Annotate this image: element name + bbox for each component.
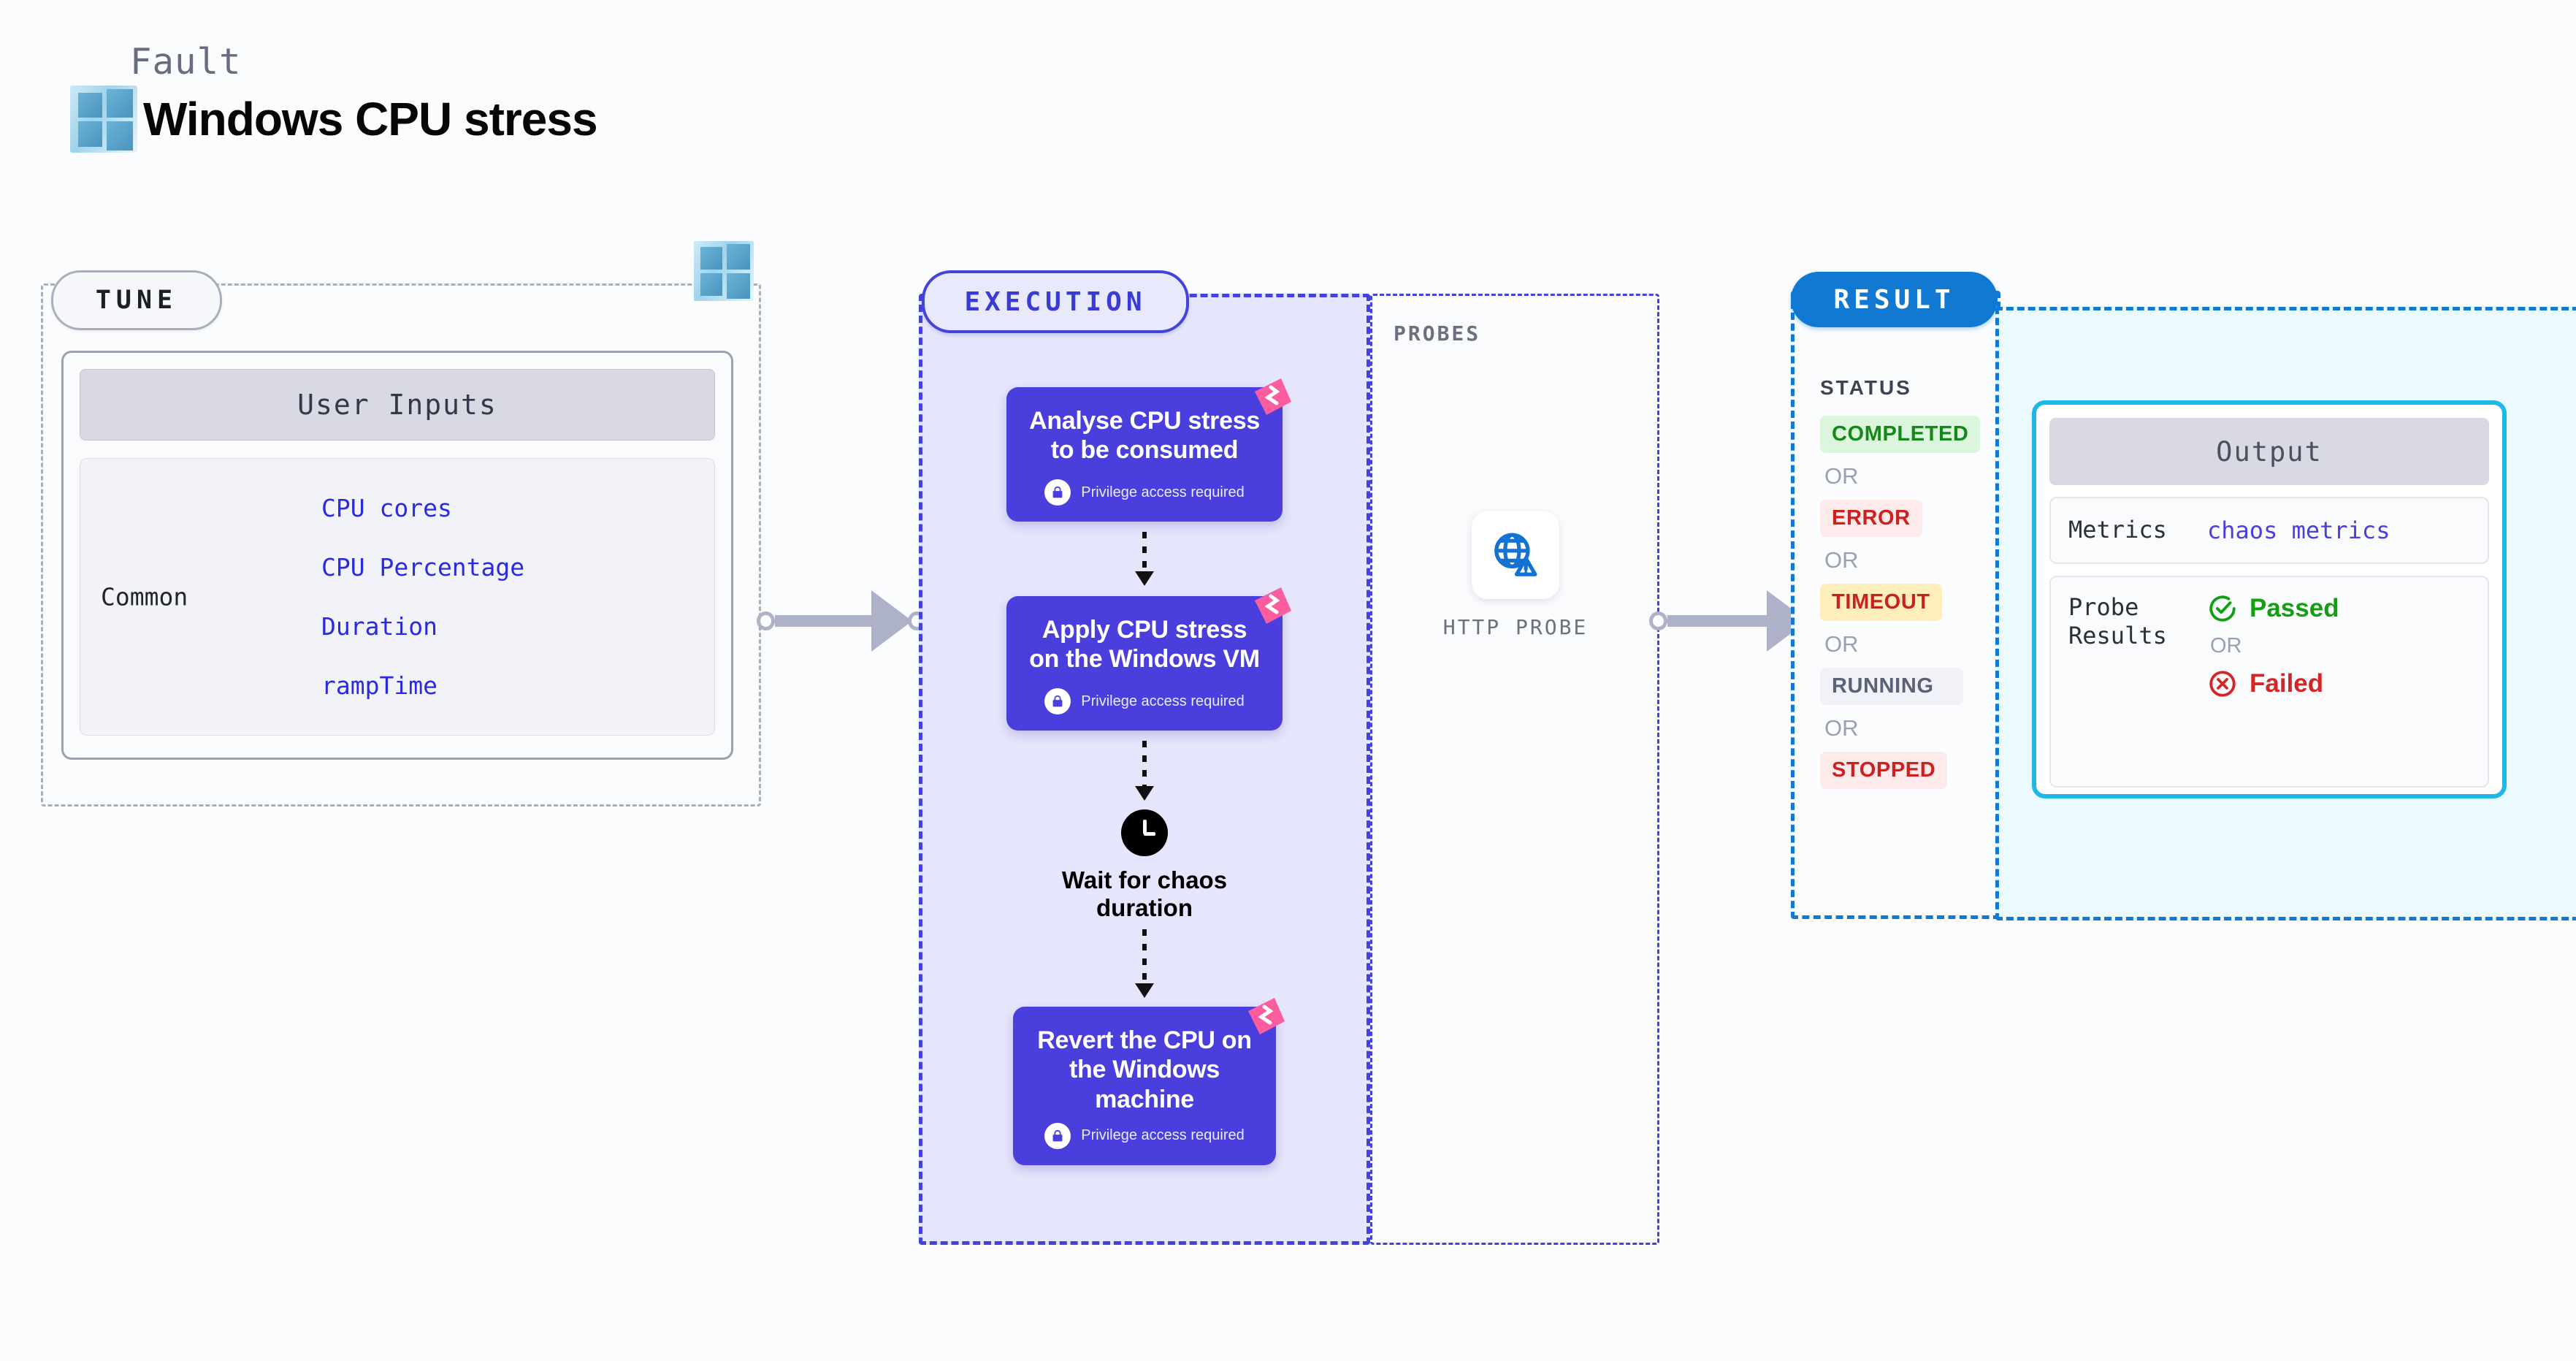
privilege-badge: Privilege access required xyxy=(1027,479,1262,506)
flow-arrow xyxy=(1142,532,1147,586)
failed-label: Failed xyxy=(2250,669,2323,698)
privilege-badge: Privilege access required xyxy=(1033,1123,1255,1149)
connector-arrowhead xyxy=(871,590,912,652)
tune-section-label: TUNE xyxy=(51,270,222,330)
user-inputs-header: User Inputs xyxy=(80,369,715,441)
status-list-title: STATUS xyxy=(1820,376,1912,400)
flow-arrow-line xyxy=(1142,532,1147,571)
privilege-text: Privilege access required xyxy=(1081,484,1244,501)
output-card-header: Output xyxy=(2049,418,2489,485)
windows-logo-icon xyxy=(70,85,137,153)
flow-arrow-line xyxy=(1142,741,1147,786)
user-inputs-body: Common CPU cores CPU Percentage Duration… xyxy=(80,458,715,736)
privilege-badge: Privilege access required xyxy=(1027,688,1262,714)
connector-dot xyxy=(1649,611,1667,630)
probe-result-failed: Failed xyxy=(2207,668,2339,699)
parameter-item[interactable]: Duration xyxy=(321,612,524,641)
user-inputs-card: User Inputs Common CPU cores CPU Percent… xyxy=(61,351,733,760)
connector-bar xyxy=(1667,615,1770,627)
status-badge: RUNNING xyxy=(1820,668,1963,705)
result-section-label: RESULT xyxy=(1791,272,1998,327)
execution-step-card[interactable]: Revert the CPU on the Windows machine Pr… xyxy=(1013,1007,1276,1164)
probes-section xyxy=(1370,294,1659,1245)
metrics-row: Metrics chaos metrics xyxy=(2049,497,2489,564)
parameter-item[interactable]: rampTime xyxy=(321,671,524,700)
parameter-list: CPU cores CPU Percentage Duration rampTi… xyxy=(321,494,524,700)
status-badge: STOPPED xyxy=(1820,752,1947,789)
wait-step-label: Wait for chaos duration xyxy=(1050,866,1239,922)
check-circle-icon xyxy=(2207,593,2238,624)
status-or-label: OR xyxy=(1824,463,1859,489)
privilege-text: Privilege access required xyxy=(1081,693,1244,710)
probe-results-values: Passed OR Failed xyxy=(2207,593,2339,699)
passed-label: Passed xyxy=(2250,594,2339,623)
probe-item[interactable]: HTTP PROBE xyxy=(1453,511,1578,639)
output-card: Output Metrics chaos metrics Probe Resul… xyxy=(2032,400,2507,798)
flow-arrow xyxy=(1142,741,1147,801)
status-or-label: OR xyxy=(1824,631,1859,657)
status-or-label: OR xyxy=(1824,547,1859,573)
probe-result-passed: Passed xyxy=(2207,593,2339,624)
execution-step-title: Revert the CPU on the Windows machine xyxy=(1033,1026,1255,1113)
clock-icon xyxy=(1121,809,1168,856)
execution-flow: Analyse CPU stress to be consumed Privil… xyxy=(919,294,1370,1245)
status-list: STATUS COMPLETED OR ERROR OR TIMEOUT OR … xyxy=(1820,376,1995,789)
privilege-text: Privilege access required xyxy=(1081,1127,1244,1144)
windows-logo-icon xyxy=(694,241,754,301)
wait-step: Wait for chaos duration xyxy=(1050,809,1239,922)
execution-step-title: Analyse CPU stress to be consumed xyxy=(1027,406,1262,465)
lock-icon xyxy=(1044,1123,1071,1149)
status-badge: TIMEOUT xyxy=(1820,584,1942,621)
execution-step-title: Apply CPU stress on the Windows VM xyxy=(1027,615,1262,674)
probes-section-label: PROBES xyxy=(1394,321,1480,346)
parameter-item[interactable]: CPU Percentage xyxy=(321,553,524,582)
flow-arrow-line xyxy=(1142,929,1147,983)
status-badge: ERROR xyxy=(1820,500,1922,537)
probe-results-or-label: OR xyxy=(2210,634,2339,658)
status-or-label: OR xyxy=(1824,715,1859,742)
metrics-key-label: Metrics xyxy=(2068,516,2207,544)
chaos-fault-ribbon-icon xyxy=(1245,995,1288,1037)
connector-dot xyxy=(757,611,775,630)
probe-results-row: Probe Results Passed OR Failed xyxy=(2049,576,2489,788)
chaos-fault-ribbon-icon xyxy=(1252,584,1294,627)
page-title-row: Windows CPU stress xyxy=(70,85,597,153)
lock-icon xyxy=(1044,479,1071,506)
probe-results-key-label: Probe Results xyxy=(2068,593,2207,650)
lock-icon xyxy=(1044,688,1071,714)
execution-step-card[interactable]: Analyse CPU stress to be consumed Privil… xyxy=(1006,387,1283,522)
connector-tune-to-execution xyxy=(757,577,926,665)
common-group-label: Common xyxy=(101,583,188,611)
metrics-value-link[interactable]: chaos metrics xyxy=(2207,516,2390,544)
fault-kicker-label: Fault xyxy=(130,44,597,80)
connector-bar xyxy=(775,615,874,627)
parameter-item[interactable]: CPU cores xyxy=(321,494,524,522)
globe-warning-icon xyxy=(1472,511,1559,599)
flow-arrow-tip xyxy=(1135,786,1154,801)
flow-arrow-tip xyxy=(1135,983,1154,998)
x-circle-icon xyxy=(2207,668,2238,699)
execution-step-card[interactable]: Apply CPU stress on the Windows VM Privi… xyxy=(1006,596,1283,731)
page-title: Windows CPU stress xyxy=(143,92,597,146)
chaos-fault-ribbon-icon xyxy=(1252,375,1294,418)
page-header: Fault Windows CPU stress xyxy=(70,44,597,153)
flow-arrow-tip xyxy=(1135,571,1154,586)
status-badge: COMPLETED xyxy=(1820,416,1980,453)
flow-arrow xyxy=(1142,929,1147,998)
probe-name-label: HTTP PROBE xyxy=(1443,615,1589,639)
